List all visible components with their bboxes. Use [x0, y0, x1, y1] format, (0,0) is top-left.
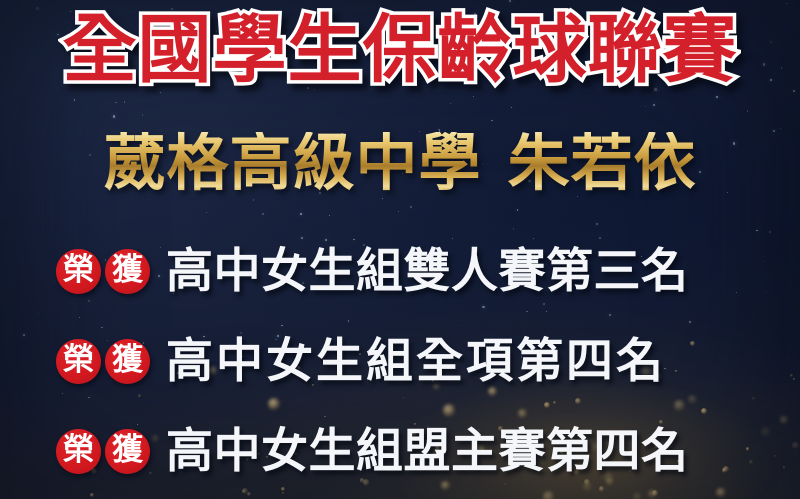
honor-badge-huo: 獲: [105, 339, 150, 384]
honor-badges: 榮 獲: [56, 249, 150, 294]
award-text: 高中女生組盟主賽第四名: [166, 428, 689, 475]
honor-badge-rong-label: 榮: [63, 345, 94, 376]
honor-badge-huo-label: 獲: [112, 255, 143, 286]
honor-badge-rong-label: 榮: [63, 255, 94, 286]
award-row: 榮 獲 高中女生組盟主賽第四名: [0, 406, 800, 496]
honor-badge-rong: 榮: [56, 249, 101, 294]
honor-badges: 榮 獲: [56, 339, 150, 384]
honor-badge-rong-label: 榮: [63, 435, 94, 466]
honor-badge-rong: 榮: [56, 429, 101, 474]
subtitle-container: 葳格高級中學朱若依: [0, 120, 800, 206]
honor-badge-huo-label: 獲: [112, 345, 143, 376]
award-poster: 全國學生保齡球聯賽 葳格高級中學朱若依 榮 獲 高中女生組雙人賽第三名 榮 獲 …: [0, 0, 800, 499]
honor-badges: 榮 獲: [56, 429, 150, 474]
school-name: 葳格高級中學: [103, 126, 481, 199]
honor-badge-huo: 獲: [105, 249, 150, 294]
award-row: 榮 獲 高中女生組全項第四名: [0, 316, 800, 406]
honor-badge-rong: 榮: [56, 339, 101, 384]
award-text: 高中女生組雙人賽第三名: [166, 248, 689, 295]
award-rows: 榮 獲 高中女生組雙人賽第三名 榮 獲 高中女生組全項第四名 榮 獲 高中女生組…: [0, 226, 800, 496]
honor-badge-huo-label: 獲: [112, 435, 143, 466]
award-text: 高中女生組全項第四名: [166, 338, 666, 385]
award-row: 榮 獲 高中女生組雙人賽第三名: [0, 226, 800, 316]
student-name: 朱若依: [508, 126, 697, 199]
poster-title: 全國學生保齡球聯賽: [63, 13, 738, 87]
honor-badge-huo: 獲: [105, 429, 150, 474]
subtitle-line: 葳格高級中學朱若依: [103, 132, 696, 194]
title-container: 全國學生保齡球聯賽: [0, 4, 800, 96]
